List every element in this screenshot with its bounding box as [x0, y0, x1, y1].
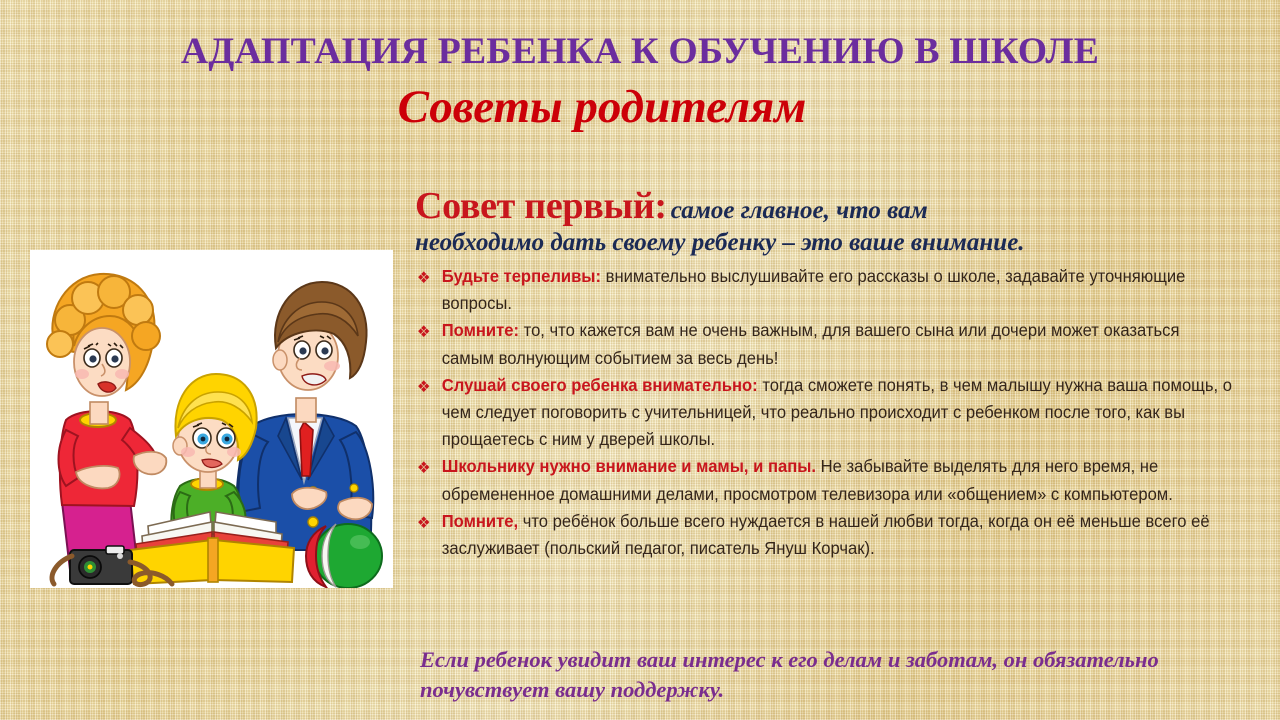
list-item: ❖ Школьнику нужно внимание и мамы, и пап… [415, 453, 1236, 507]
advice-heading: Совет первый: самое главное, что вам [415, 186, 1275, 227]
advice-heading-tail-line2: необходимо дать своему ребенку – это ваш… [415, 229, 1275, 257]
tip-highlight: Школьнику нужно внимание и мамы, и папы. [442, 456, 816, 476]
page-subtitle: Советы родителям [0, 80, 1242, 134]
advice-heading-lead: Совет первый: [415, 185, 667, 227]
slide-root: АДАПТАЦИЯ РЕБЕНКА К ОБУЧЕНИЮ В ШКОЛЕ Сов… [0, 0, 1280, 720]
list-item: ❖ Будьте терпеливы: внимательно выслушив… [415, 263, 1236, 317]
list-item: ❖ Помните: то, что кажется вам не очень … [415, 317, 1236, 371]
tip-highlight: Помните, [442, 511, 518, 531]
list-item: ❖ Помните, что ребёнок больше всего нужд… [415, 508, 1236, 562]
footer-note: Если ребенок увидит ваш интерес к его де… [420, 645, 1260, 705]
diamond-bullet-icon: ❖ [417, 264, 431, 291]
tip-highlight: Помните: [442, 320, 519, 340]
page-title: АДАПТАЦИЯ РЕБЕНКА К ОБУЧЕНИЮ В ШКОЛЕ [0, 30, 1280, 73]
diamond-bullet-icon: ❖ [417, 318, 431, 345]
tip-highlight: Будьте терпеливы: [442, 266, 601, 286]
advice-heading-tail-line1: самое главное, что вам [671, 197, 928, 224]
tip-text: то, что кажется вам не очень важным, для… [442, 320, 1180, 367]
tip-text: что ребёнок больше всего нуждается в наш… [442, 511, 1210, 558]
family-reading-illustration [30, 250, 393, 588]
tips-list: ❖ Будьте терпеливы: внимательно выслушив… [415, 263, 1275, 562]
tip-highlight: Слушай своего ребенка внимательно: [442, 375, 758, 395]
diamond-bullet-icon: ❖ [417, 373, 431, 400]
advice-content: Совет первый: самое главное, что вам нео… [415, 186, 1275, 562]
diamond-bullet-icon: ❖ [417, 454, 431, 481]
diamond-bullet-icon: ❖ [417, 509, 431, 536]
list-item: ❖ Слушай своего ребенка внимательно: тог… [415, 372, 1236, 454]
illustration-panel [30, 250, 393, 588]
